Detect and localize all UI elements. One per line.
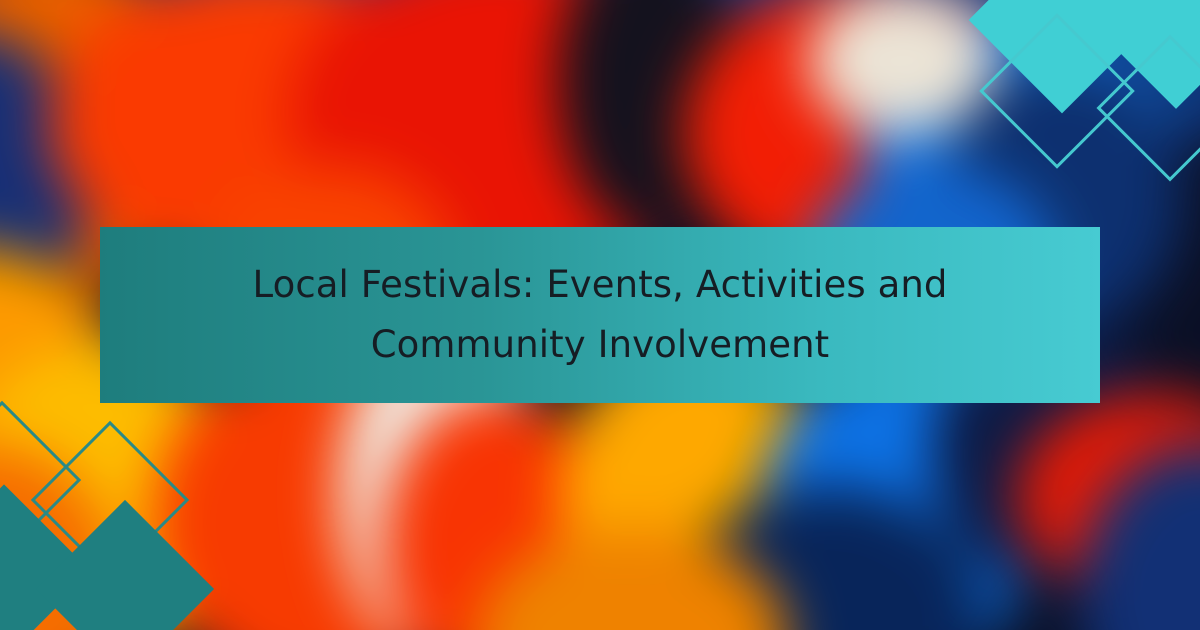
bottom-left-diamond-cluster [0,430,220,630]
page-title: Local Festivals: Events, Activities and … [253,255,948,375]
top-right-diamond-cluster [980,0,1200,190]
title-banner: Local Festivals: Events, Activities and … [100,227,1100,403]
social-card-canvas: Local Festivals: Events, Activities and … [0,0,1200,630]
